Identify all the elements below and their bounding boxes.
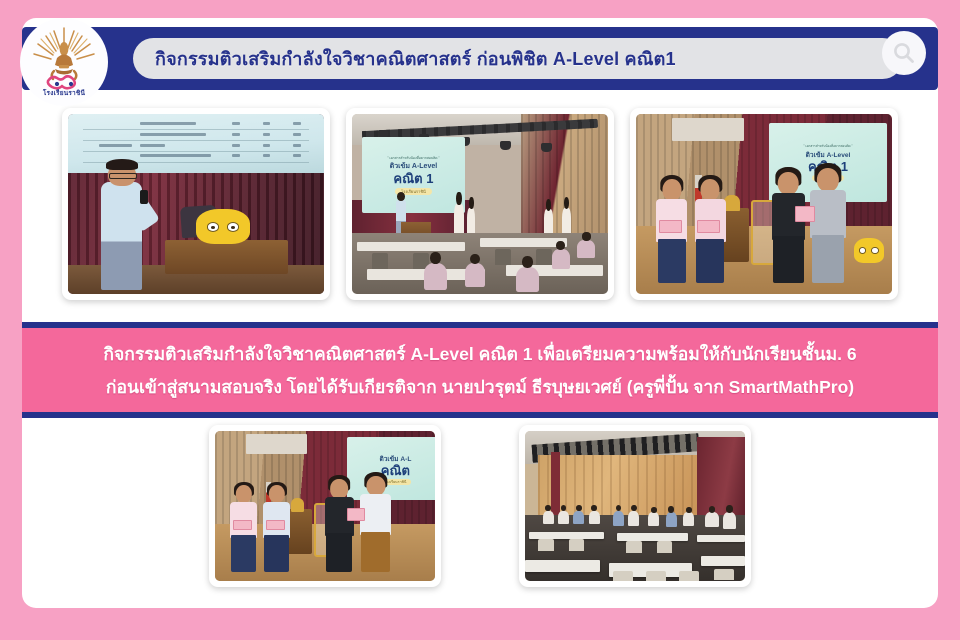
projector-screen [246, 434, 308, 454]
red-pillar [551, 452, 560, 518]
certificate-envelope [795, 206, 815, 222]
caption-line-2: ก่อนเข้าสู่สนามสอบจริง โดยได้รับเกียรติจ… [106, 373, 854, 401]
search-icon[interactable] [882, 31, 926, 75]
gift-box [233, 520, 253, 531]
slide-line-3: คณิต 1 [393, 172, 433, 185]
seated-student [558, 511, 569, 525]
seated-student [589, 511, 600, 525]
photo-award-ceremony-grey-shirt[interactable]: " เอกสารสำหรับน้องที่อยากสอบติด " ติวเข้… [630, 108, 898, 300]
slide-line-3: คณิต [381, 464, 410, 477]
speaker-head [108, 163, 136, 186]
seated-student [723, 512, 736, 529]
teacher-black-dress [772, 172, 805, 284]
photo-image [525, 431, 745, 581]
caption-text-block: กิจกรรมติวเสริมกำลังใจวิชาคณิตศาสตร์ A-L… [22, 328, 938, 412]
caption-divider-bottom [22, 412, 938, 418]
photo-audience-seated[interactable] [519, 425, 751, 587]
gift-box [697, 220, 720, 233]
seated-student [516, 267, 539, 292]
seated-student [543, 511, 554, 525]
header-bar: กิจกรรมติวเสริมกำลังใจวิชาคณิตศาสตร์ ก่อ… [22, 27, 938, 90]
page-title: กิจกรรมติวเสริมกำลังใจวิชาคณิตศาสตร์ ก่อ… [133, 44, 676, 73]
photo-image: " เอกสารสำหรับน้องที่อยากสอบติด " ติวเข้… [636, 114, 892, 294]
photo-image [68, 114, 324, 294]
projector-screen [672, 118, 744, 141]
photo-award-ceremony-white-shirt[interactable]: ติวเข้ม A-L คณิต โรงเรียนราชินี [209, 425, 441, 587]
seated-student [648, 512, 659, 526]
seated-student [577, 240, 595, 258]
seated-student [465, 263, 485, 286]
gift-box [659, 220, 682, 233]
school-emblem-icon: โรงเรียนราชินี [20, 18, 108, 106]
seated-student [628, 511, 639, 526]
seated-student [683, 512, 694, 526]
seated-student [705, 512, 718, 527]
projected-slide: " เอกสารสำหรับน้องที่อยากสอบติด " ติวเข้… [362, 137, 464, 213]
seated-student [666, 512, 677, 527]
microphone-icon [140, 190, 149, 204]
title-pill: กิจกรรมติวเสริมกำลังใจวิชาคณิตศาสตร์ ก่อ… [133, 38, 903, 79]
photo-row-bottom: ติวเข้ม A-L คณิต โรงเรียนราชินี [22, 425, 938, 605]
photo-image: ติวเข้ม A-L คณิต โรงเรียนราชินี [215, 431, 435, 581]
minion-plush [196, 209, 250, 243]
guest-speaker-white [360, 476, 391, 572]
seated-student [424, 263, 447, 290]
photo-image: " เอกสารสำหรับน้องที่อยากสอบติด " ติวเข้… [352, 114, 608, 294]
certificate-envelope [347, 508, 365, 522]
caption-band: กิจกรรมติวเสริมกำลังใจวิชาคณิตศาสตร์ A-L… [22, 322, 938, 418]
poster-page: กิจกรรมติวเสริมกำลังใจวิชาคณิตศาสตร์ ก่อ… [0, 0, 960, 640]
teacher-black-dress [325, 479, 354, 572]
seated-student [613, 511, 624, 526]
seated-student [552, 249, 570, 269]
caption-line-1: กิจกรรมติวเสริมกำลังใจวิชาคณิตศาสตร์ A-L… [103, 340, 856, 368]
slide-line-2: ติวเข้ม A-L [379, 453, 411, 464]
photo-auditorium-wide[interactable]: " เอกสารสำหรับน้องที่อยากสอบติด " ติวเข้… [346, 108, 614, 300]
guest-speaker-grey [810, 168, 846, 283]
seated-student [573, 511, 584, 525]
photo-row-top: " เอกสารสำหรับน้องที่อยากสอบติด " ติวเข้… [22, 108, 938, 308]
photo-speaker-with-microphone[interactable] [62, 108, 330, 300]
right-wall [697, 437, 745, 524]
minion-plush [854, 238, 885, 263]
stage-table [165, 240, 288, 274]
gift-box [266, 520, 286, 531]
logo-caption: โรงเรียนราชินี [20, 88, 108, 98]
